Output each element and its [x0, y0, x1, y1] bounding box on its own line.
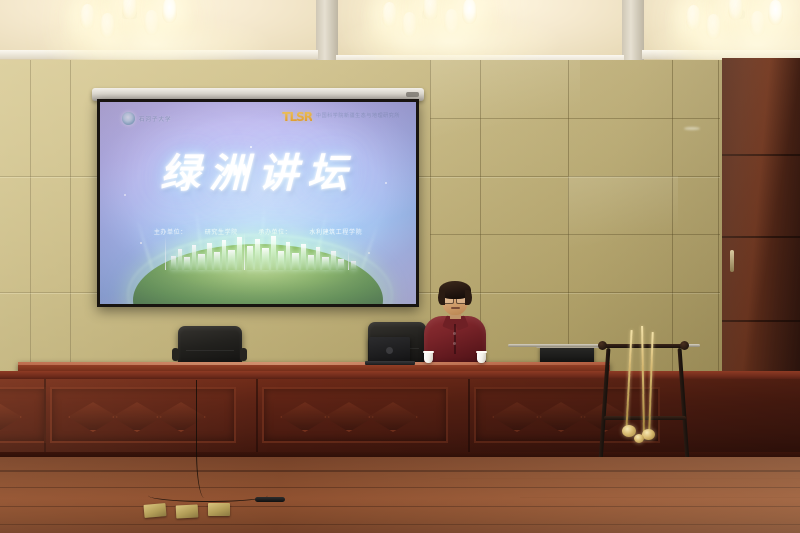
cup-rim: [423, 351, 434, 353]
cup-rim: [476, 351, 487, 353]
chair-arm: [172, 348, 179, 361]
screen-case-endcap: [406, 92, 419, 97]
speaker-mouth: [451, 307, 460, 309]
chair-arm: [240, 348, 247, 361]
ceiling-beam-right: [622, 0, 644, 66]
floor-outlet-box-2: [176, 504, 199, 518]
slide-vignette: [100, 102, 416, 304]
chair-seam: [186, 350, 235, 351]
laptop-logo: [386, 347, 393, 354]
speaker-hair-side-right: [465, 290, 472, 305]
shirt-button: [453, 332, 456, 335]
presenter-laptop-keyboard[interactable]: [365, 361, 415, 365]
door-handle[interactable]: [730, 250, 734, 272]
floor-cable-horizontal: [148, 489, 268, 502]
shirt-placket: [454, 324, 456, 354]
ceiling-beam-left: [316, 0, 338, 66]
floor-outlet-box-1: [143, 503, 166, 518]
floor-reflection: [0, 457, 800, 533]
floor-microphone[interactable]: [255, 497, 285, 502]
rack-lower-bar: [604, 416, 686, 420]
projection-screen: 石河子大学 TLSR 中国科学院新疆生态与地理研究所 绿洲讲坛 主办单位：研究生…: [97, 88, 419, 309]
table-edge-highlight: [18, 362, 610, 365]
presenter-laptop-screen[interactable]: [369, 337, 410, 363]
rack-top-bar: [600, 344, 688, 348]
tabletop-speaker: [540, 346, 594, 363]
speaker-hair-side-left: [438, 290, 445, 305]
screen-border: 石河子大学 TLSR 中国科学院新疆生态与地理研究所 绿洲讲坛 主办单位：研究生…: [97, 99, 419, 307]
shirt-button: [453, 342, 456, 345]
floor-outlet-box-3: [208, 503, 230, 516]
lecture-hall-photo: 石河子大学 TLSR 中国科学院新疆生态与地理研究所 绿洲讲坛 主办单位：研究生…: [0, 0, 800, 533]
water-cup-left: [424, 352, 433, 363]
presentation-slide: 石河子大学 TLSR 中国科学院新疆生态与地理研究所 绿洲讲坛 主办单位：研究生…: [100, 102, 416, 304]
door-sheen: [722, 58, 800, 388]
stage-cable-vertical: [196, 380, 217, 498]
chime-disc-3[interactable]: [634, 434, 644, 443]
water-cup-right: [477, 352, 486, 363]
